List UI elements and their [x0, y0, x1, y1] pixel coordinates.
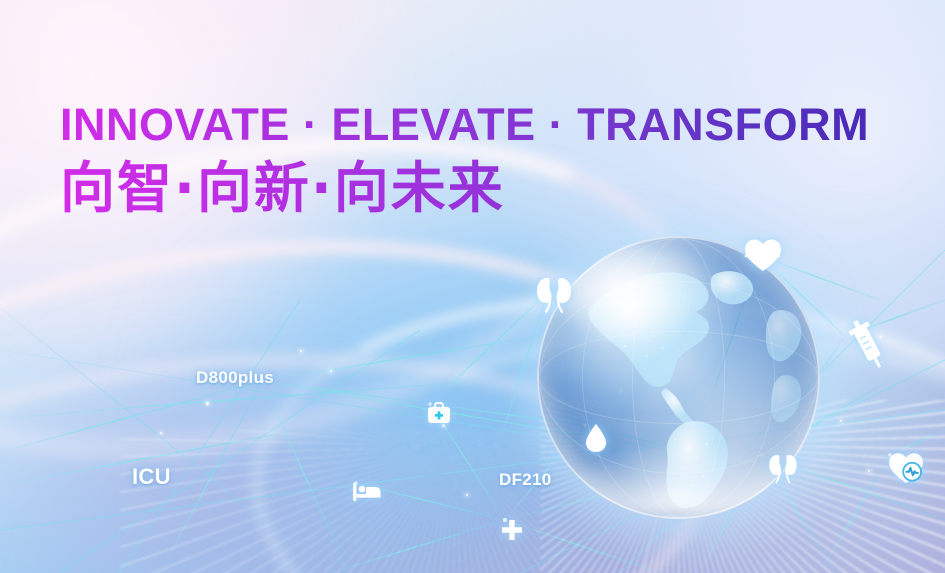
syringe-icon	[846, 318, 890, 372]
hospital-bed-icon	[352, 481, 382, 503]
sparkle	[442, 424, 445, 427]
sparkle	[206, 402, 209, 405]
product-label-d800plus: D800plus	[196, 368, 274, 388]
headline-english: INNOVATE · ELEVATE · TRANSFORM	[60, 101, 900, 149]
product-label-icu: ICU	[132, 464, 171, 490]
sparkle	[160, 432, 162, 434]
heart-monitor-icon	[888, 452, 924, 484]
headline-chinese: 向智·向新·向未来	[60, 159, 900, 218]
sparkle	[330, 370, 332, 372]
blood-drop-icon	[584, 423, 608, 453]
kidneys-icon	[528, 272, 580, 324]
product-label-df210: DF210	[499, 470, 552, 490]
headline-block: INNOVATE · ELEVATE · TRANSFORM 向智·向新·向未来	[60, 101, 900, 218]
banner-stage: INNOVATE · ELEVATE · TRANSFORM 向智·向新·向未来…	[0, 0, 945, 573]
light-blob-bottom-left	[0, 330, 460, 573]
perspective-dot-grid	[0, 510, 420, 573]
sparkle	[868, 470, 870, 472]
medical-cross-icon	[501, 519, 523, 541]
sparkle	[300, 350, 302, 352]
heart-pulse-icon	[744, 238, 782, 272]
kidneys-icon-2	[762, 450, 804, 492]
medical-kit-icon	[427, 402, 451, 424]
sparkle	[840, 420, 842, 422]
sparkle	[466, 494, 468, 496]
light-fan-left	[120, 430, 540, 573]
